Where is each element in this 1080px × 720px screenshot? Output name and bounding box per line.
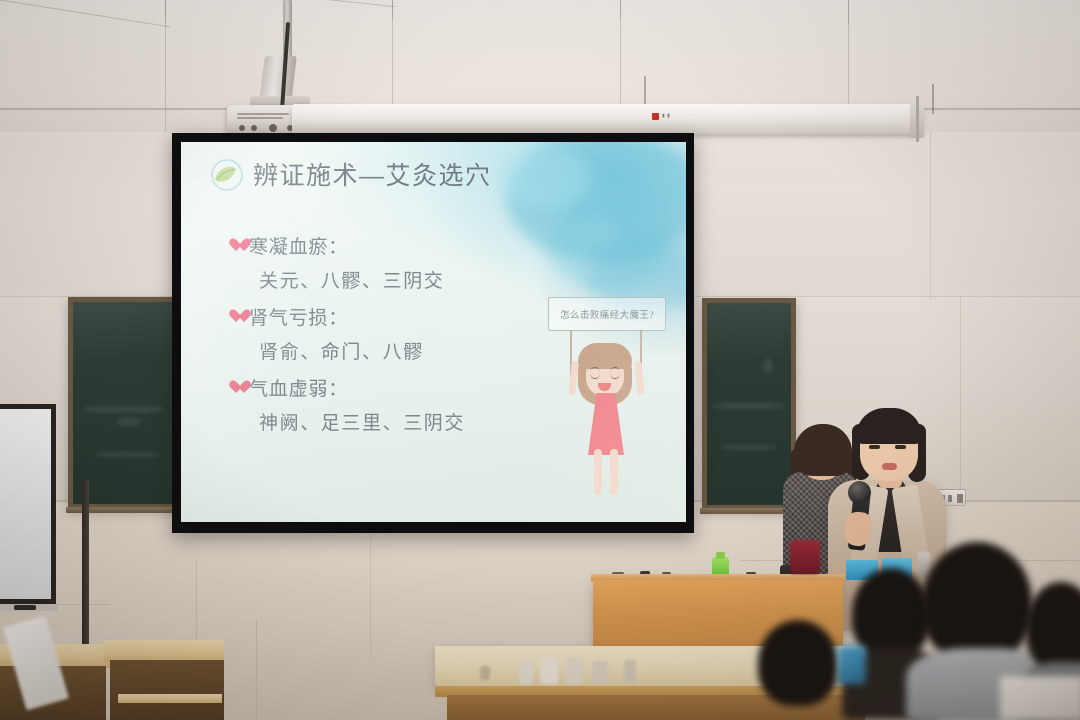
ceiling-wire	[932, 84, 934, 114]
student-papers	[1000, 676, 1080, 720]
desk-item	[540, 658, 558, 684]
chalkboard-right	[702, 298, 796, 510]
green-bottle-cap	[716, 552, 725, 559]
cartoon-girl-illustration: 怎么击败痛经大魔王?	[540, 297, 668, 507]
desk-item	[592, 661, 608, 683]
wall-seam-vertical	[256, 620, 257, 720]
heart-bullet-icon	[229, 381, 244, 395]
cartoon-bangs	[578, 343, 632, 369]
projected-slide: . . . . 辨证施术—艾灸选穴 寒凝血瘀： 关元、八髎、三阴交 肾气亏损： …	[181, 142, 686, 522]
screen-mount-hook	[916, 96, 919, 142]
cartoon-sign-text: 怎么击败痛经大魔王?	[560, 307, 654, 321]
chalkboard-left	[68, 297, 186, 509]
svg-text:. . . .: . . . .	[222, 193, 232, 198]
desk-item	[480, 666, 490, 680]
screen-roller-housing	[292, 104, 922, 134]
heart-bullet-icon	[229, 239, 244, 253]
screen-brand-badge: ▮ ▮	[652, 110, 710, 122]
slide-logo-icon: . . . .	[205, 156, 249, 200]
student-phone	[838, 646, 866, 684]
projection-screen-frame: . . . . 辨证施术—艾灸选穴 寒凝血瘀： 关元、八髎、三阴交 肾气亏损： …	[172, 133, 694, 533]
assistant-hair	[794, 424, 852, 476]
student-head	[758, 620, 838, 720]
desk-item	[565, 658, 583, 684]
wall-seam-vertical	[930, 120, 931, 300]
classroom-scene: ▮ ▮	[0, 0, 1080, 720]
bullet-heading-label: 肾气亏损：	[249, 303, 348, 330]
heart-bullet-icon	[229, 310, 244, 324]
whiteboard	[0, 404, 56, 604]
desk-left-far	[104, 640, 224, 662]
desk-left-shelf	[118, 694, 222, 703]
bullet-heading-label: 寒凝血瘀：	[249, 232, 348, 259]
cartoon-arm-right	[634, 361, 645, 396]
whiteboard-marker	[14, 605, 36, 610]
red-bag	[790, 540, 820, 574]
bullet-heading-label: 气血虚弱：	[249, 374, 348, 401]
desk-left-far-body	[110, 660, 224, 720]
cartoon-leg-left	[594, 449, 602, 495]
bullet-points: 关元、八髎、三阴交	[259, 266, 629, 293]
desk-item	[519, 660, 533, 684]
cartoon-leg-right	[610, 449, 618, 495]
bullet-heading: 寒凝血瘀：	[229, 232, 629, 259]
slide-title: 辨证施术—艾灸选穴	[253, 156, 492, 192]
cartoon-sign: 怎么击败痛经大魔王?	[548, 297, 666, 331]
wall-seam-vertical	[960, 296, 961, 496]
desk-item	[624, 660, 636, 682]
